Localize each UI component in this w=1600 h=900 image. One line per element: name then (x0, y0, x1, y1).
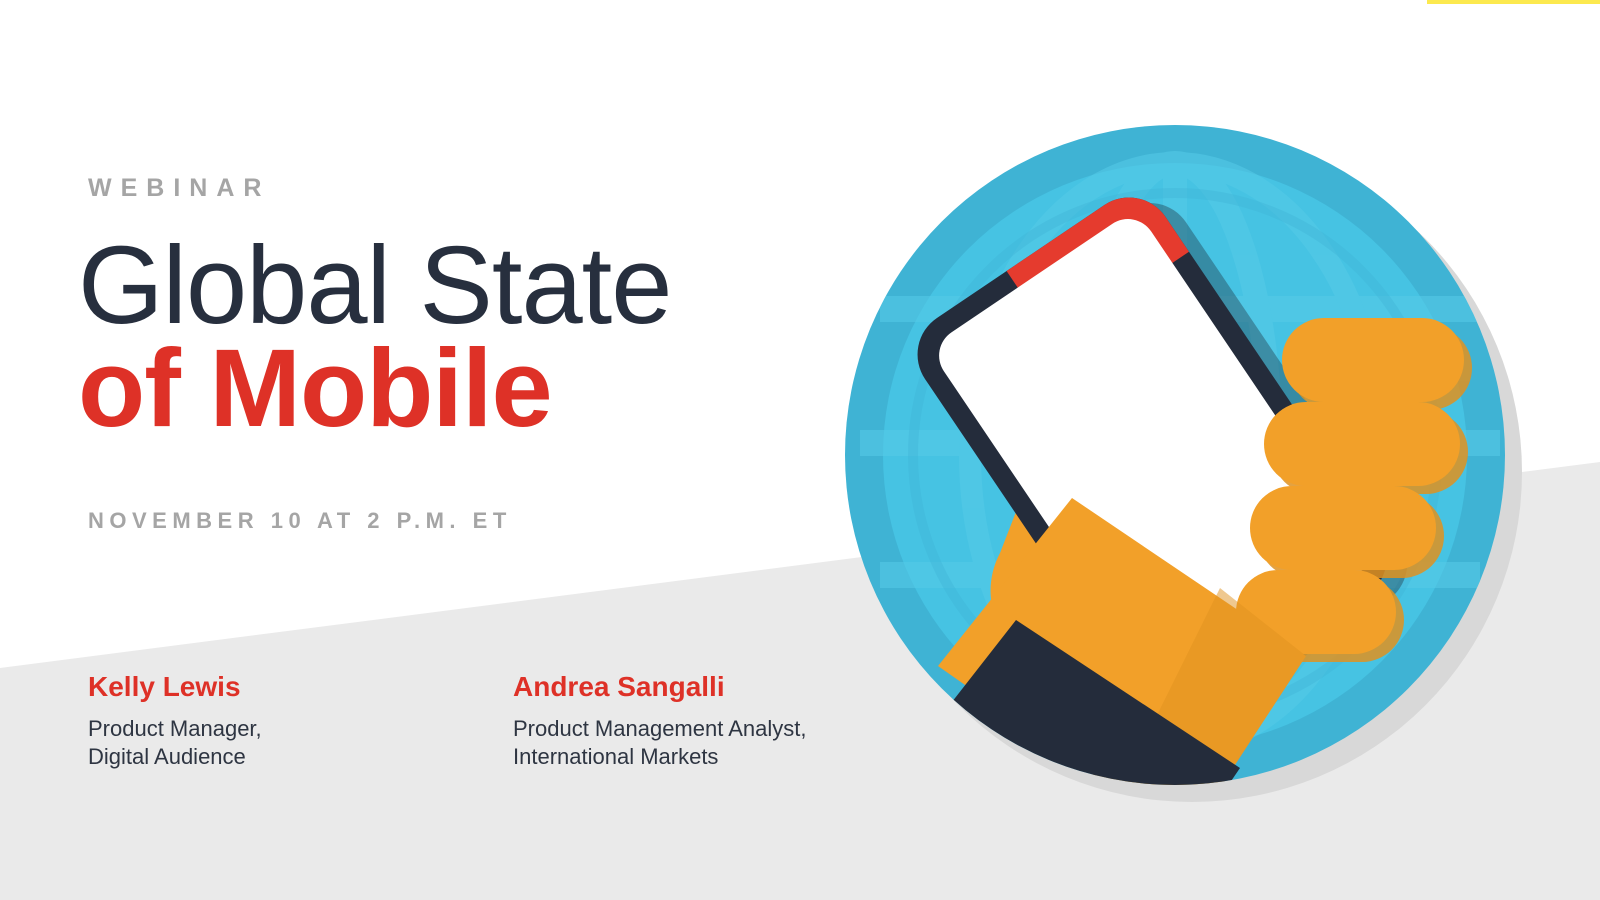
title-line-2: of Mobile (78, 336, 671, 443)
speakers-list: Kelly Lewis Product Manager, Digital Aud… (88, 672, 938, 771)
finger-3 (1250, 486, 1436, 570)
speaker-role: Product Manager, Digital Audience (88, 715, 513, 771)
speaker-role: Product Management Analyst, Internationa… (513, 715, 938, 771)
speaker-card: Andrea Sangalli Product Management Analy… (513, 672, 938, 771)
speaker-card: Kelly Lewis Product Manager, Digital Aud… (88, 672, 513, 771)
page-title: Global State of Mobile (78, 233, 671, 442)
finger-1 (1282, 318, 1464, 402)
speaker-name: Kelly Lewis (88, 672, 513, 703)
webinar-slide: 2020 TRENDS (0, 0, 1600, 900)
speaker-name: Andrea Sangalli (513, 672, 938, 703)
finger-2 (1264, 402, 1460, 486)
top-accent-rule (1427, 0, 1600, 4)
title-line-1: Global State (78, 233, 671, 340)
event-datetime: NOVEMBER 10 AT 2 P.M. ET (88, 508, 512, 534)
eyebrow-label: WEBINAR (88, 176, 270, 201)
